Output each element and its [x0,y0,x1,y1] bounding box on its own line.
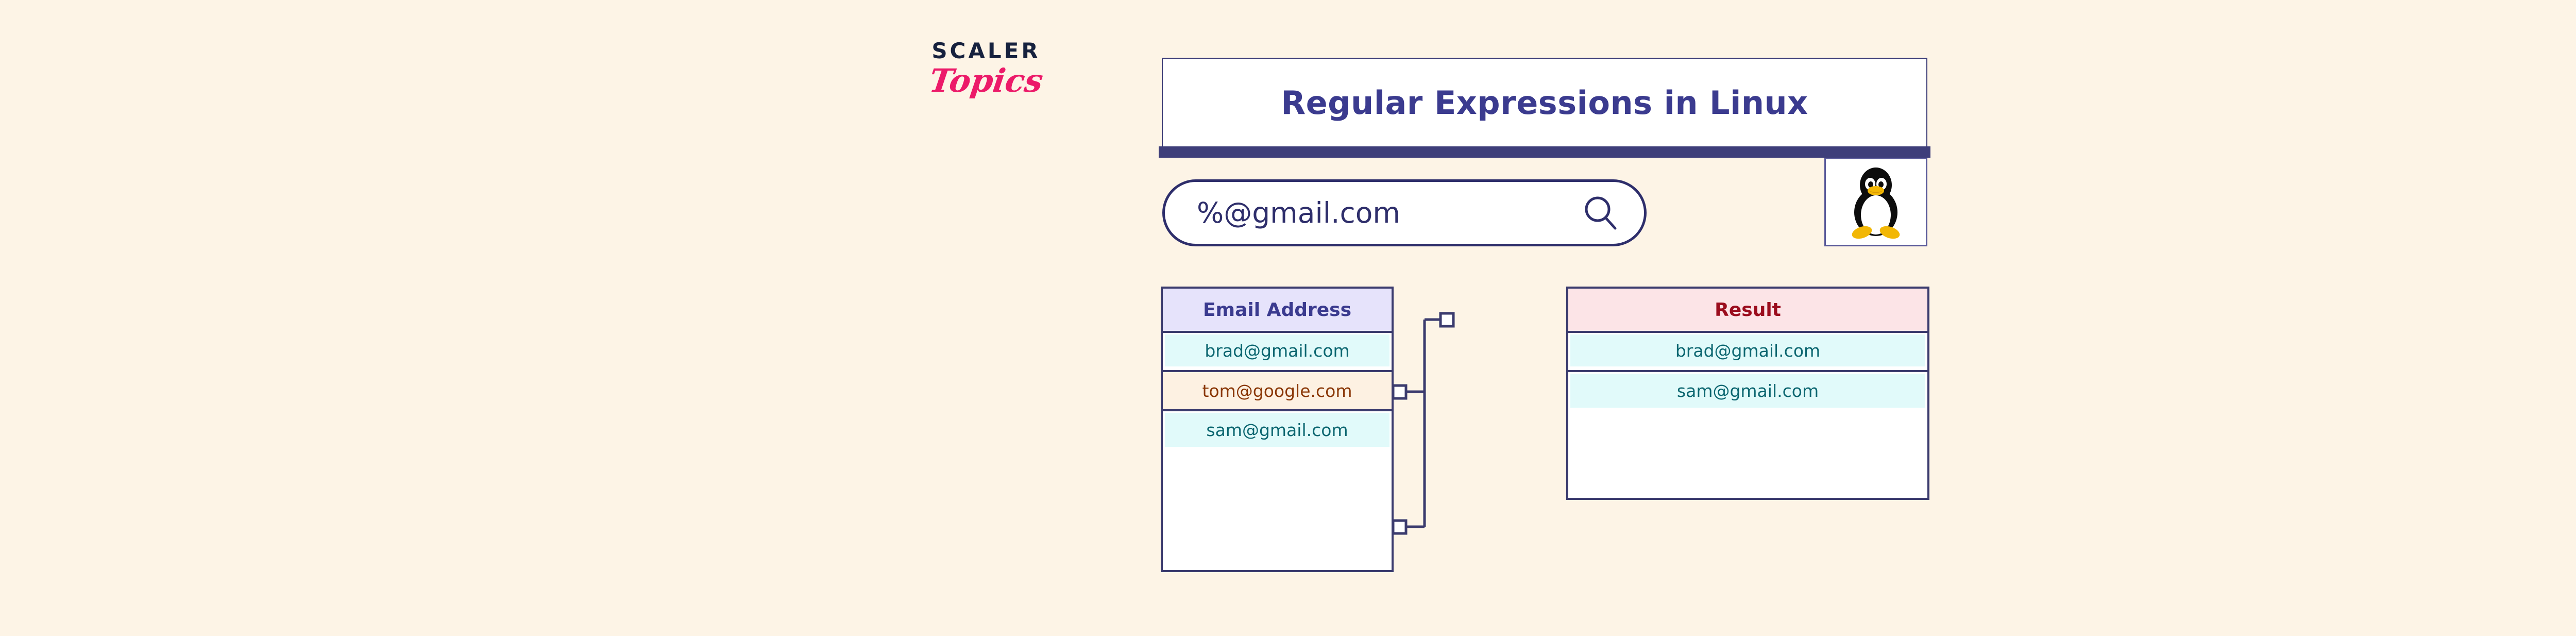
table-cell: brad@gmail.com [1165,334,1389,366]
column-header-label: Email Address [1203,299,1351,321]
connector-diagram [1386,287,1582,575]
table-row[interactable]: sam@gmail.com [1568,372,1927,411]
title-underbar [1159,146,1930,158]
connector-node-sam [1393,521,1406,533]
connector-node-brad [1393,386,1406,398]
table-row[interactable]: brad@gmail.com [1568,333,1927,372]
table-cell: brad@gmail.com [1570,334,1925,366]
search-box[interactable]: %@gmail.com [1162,179,1647,246]
search-icon[interactable] [1582,194,1619,231]
search-input[interactable]: %@gmail.com [1197,196,1582,229]
result-value: brad@gmail.com [1675,341,1820,361]
table-row[interactable]: brad@gmail.com [1163,333,1392,372]
email-address-table: Email Address brad@gmail.com tom@google.… [1161,287,1394,572]
result-table: Result brad@gmail.com sam@gmail.com [1566,287,1929,500]
linux-logo-box [1824,158,1927,246]
logo-wordmark-scaler: SCALER [899,40,1074,62]
email-value: tom@google.com [1202,381,1352,401]
email-value: brad@gmail.com [1205,341,1349,361]
table-header-result: Result [1568,289,1927,333]
email-value: sam@gmail.com [1206,420,1348,440]
result-value: sam@gmail.com [1677,381,1819,401]
table-cell: tom@google.com [1163,372,1392,409]
table-cell: sam@gmail.com [1570,374,1925,408]
column-header-label: Result [1715,299,1781,321]
table-row[interactable]: tom@google.com [1163,372,1392,411]
logo-wordmark-topics: Topics [896,65,1076,97]
page-title: Regular Expressions in Linux [1281,84,1808,122]
table-header-email-address: Email Address [1163,289,1392,333]
connector-node-result [1440,313,1453,326]
linux-penguin-icon [1842,163,1909,241]
table-cell: sam@gmail.com [1165,413,1389,447]
scaler-topics-logo: SCALER Topics [899,40,1074,143]
table-row[interactable]: sam@gmail.com [1163,411,1392,450]
title-bar: Regular Expressions in Linux [1162,58,1927,146]
